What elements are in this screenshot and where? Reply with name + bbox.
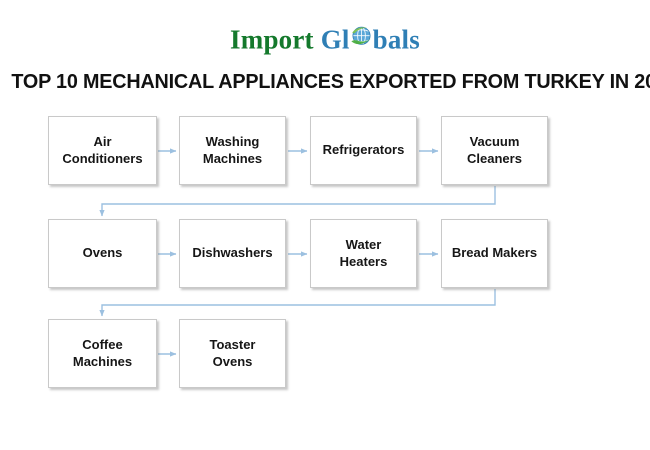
node-water-heaters[interactable]: Water Heaters (310, 219, 417, 288)
node-label: Toaster Ovens (206, 337, 260, 370)
page-title: TOP 10 MECHANICAL APPLIANCES EXPORTED FR… (11, 70, 638, 94)
node-label: Bread Makers (448, 245, 541, 261)
node-label: Washing Machines (199, 134, 266, 167)
node-label: Coffee Machines (69, 337, 136, 370)
node-bread-makers[interactable]: Bread Makers (441, 219, 548, 288)
logo-text-gl: Gl (321, 24, 350, 54)
logo-text-bals: bals (373, 24, 420, 54)
node-vacuum-cleaners[interactable]: Vacuum Cleaners (441, 116, 548, 185)
logo-text-import: Import (230, 24, 314, 54)
node-coffee-machines[interactable]: Coffee Machines (48, 319, 157, 388)
globe-icon (349, 24, 374, 49)
arrow-vacuum-to-ovens (102, 186, 495, 216)
node-refrigerators[interactable]: Refrigerators (310, 116, 417, 185)
node-label: Air Conditioners (58, 134, 146, 167)
node-toaster-ovens[interactable]: Toaster Ovens (179, 319, 286, 388)
node-label: Ovens (79, 245, 127, 261)
node-label: Vacuum Cleaners (463, 134, 526, 167)
arrow-bread-to-coffee (102, 289, 495, 316)
node-dishwashers[interactable]: Dishwashers (179, 219, 286, 288)
node-air-conditioners[interactable]: Air Conditioners (48, 116, 157, 185)
brand-logo: Import Gl bals (0, 24, 650, 53)
infographic-canvas: Import Gl bals TOP 10 MECHANICAL APPLIAN… (0, 0, 650, 450)
node-ovens[interactable]: Ovens (48, 219, 157, 288)
node-label: Water Heaters (336, 237, 392, 270)
node-washing-machines[interactable]: Washing Machines (179, 116, 286, 185)
node-label: Dishwashers (188, 245, 276, 261)
node-label: Refrigerators (319, 142, 409, 158)
